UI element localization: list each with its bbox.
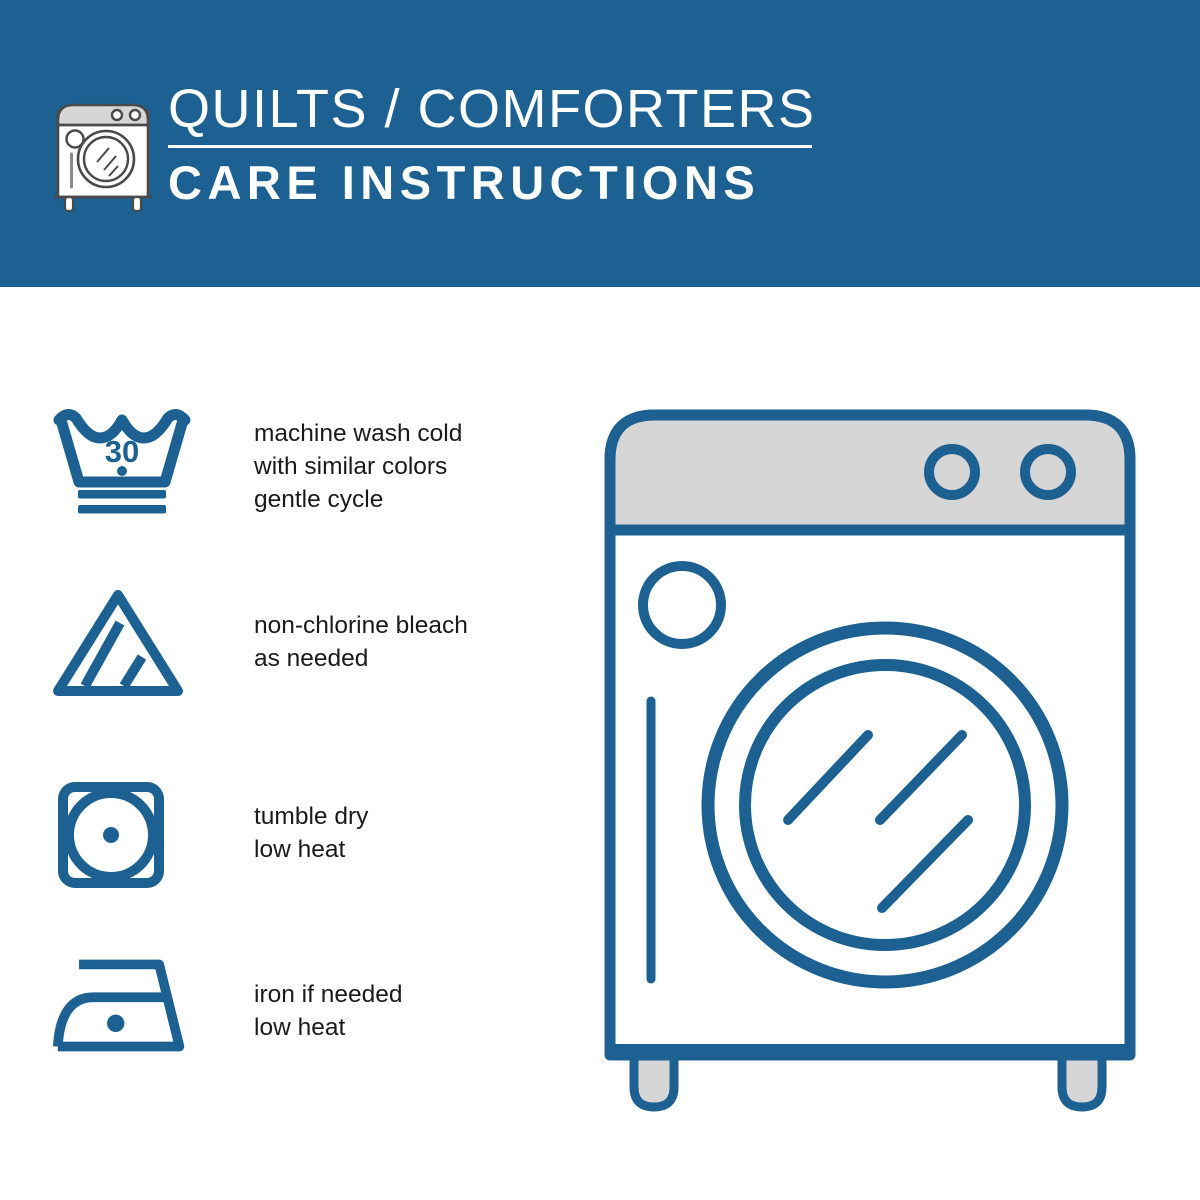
washing-machine-icon	[52, 80, 160, 212]
care-line: non-chlorine bleach	[254, 609, 468, 642]
care-item-label-iron: iron if needed low heat	[254, 978, 402, 1044]
care-line: low heat	[254, 1011, 402, 1044]
page-title: QUILTS / COMFORTERS	[168, 78, 828, 140]
iron-low-heat-icon	[52, 952, 192, 1057]
wash-basin-30-gentle-icon: 30	[52, 408, 192, 520]
knob-left	[929, 449, 975, 495]
care-line: machine wash cold	[254, 417, 462, 450]
tumble-dry-low-heat-icon	[52, 777, 192, 889]
care-item-bleach: non-chlorine bleach as needed	[0, 587, 560, 699]
care-item-iron: iron if needed low heat	[0, 952, 560, 1057]
page-header: QUILTS / COMFORTERS CARE INSTRUCTIONS	[0, 0, 1200, 287]
care-line: tumble dry	[254, 800, 368, 833]
page-subtitle: CARE INSTRUCTIONS	[168, 154, 828, 212]
care-line: low heat	[254, 833, 368, 866]
wash-temperature-label: 30	[105, 434, 139, 469]
large-washing-machine-illustration	[600, 405, 1170, 1125]
title-divider	[168, 145, 812, 148]
care-line: with similar colors	[254, 450, 462, 483]
care-line: as needed	[254, 642, 468, 675]
care-item-machine-wash: 30 machine wash cold with similar colors…	[0, 408, 560, 520]
triangle-non-chlorine-bleach-icon	[52, 587, 192, 699]
care-item-label-tumble-dry: tumble dry low heat	[254, 800, 368, 866]
care-instructions-list: 30 machine wash cold with similar colors…	[0, 287, 560, 1200]
care-item-label-machine-wash: machine wash cold with similar colors ge…	[254, 417, 462, 516]
header-title-block: QUILTS / COMFORTERS CARE INSTRUCTIONS	[168, 78, 828, 212]
care-item-label-bleach: non-chlorine bleach as needed	[254, 609, 468, 675]
knob-right	[1025, 449, 1071, 495]
detergent-drawer-circle	[643, 566, 721, 644]
care-line: gentle cycle	[254, 483, 462, 516]
care-line: iron if needed	[254, 978, 402, 1011]
care-item-tumble-dry: tumble dry low heat	[0, 777, 560, 889]
